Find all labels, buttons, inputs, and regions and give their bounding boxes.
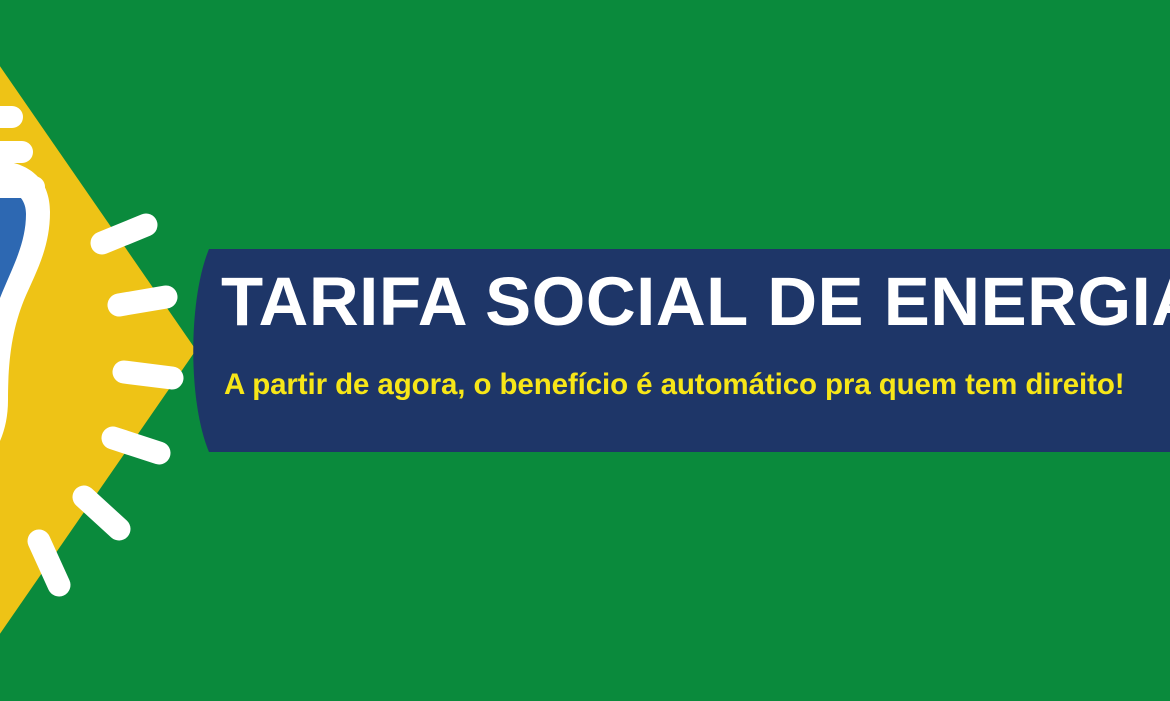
lightbulb-icon <box>0 0 1170 701</box>
lightbulb-base <box>0 117 34 187</box>
ribbon-shape <box>193 249 1170 452</box>
lightbulb-rays-icon <box>39 225 172 585</box>
campaign-banner-image: TARIFA SOCIAL DE ENERGIA A partir de ago… <box>0 0 1170 701</box>
lightbulb-glass <box>0 160 50 486</box>
navy-ribbon-banner <box>193 249 1170 452</box>
